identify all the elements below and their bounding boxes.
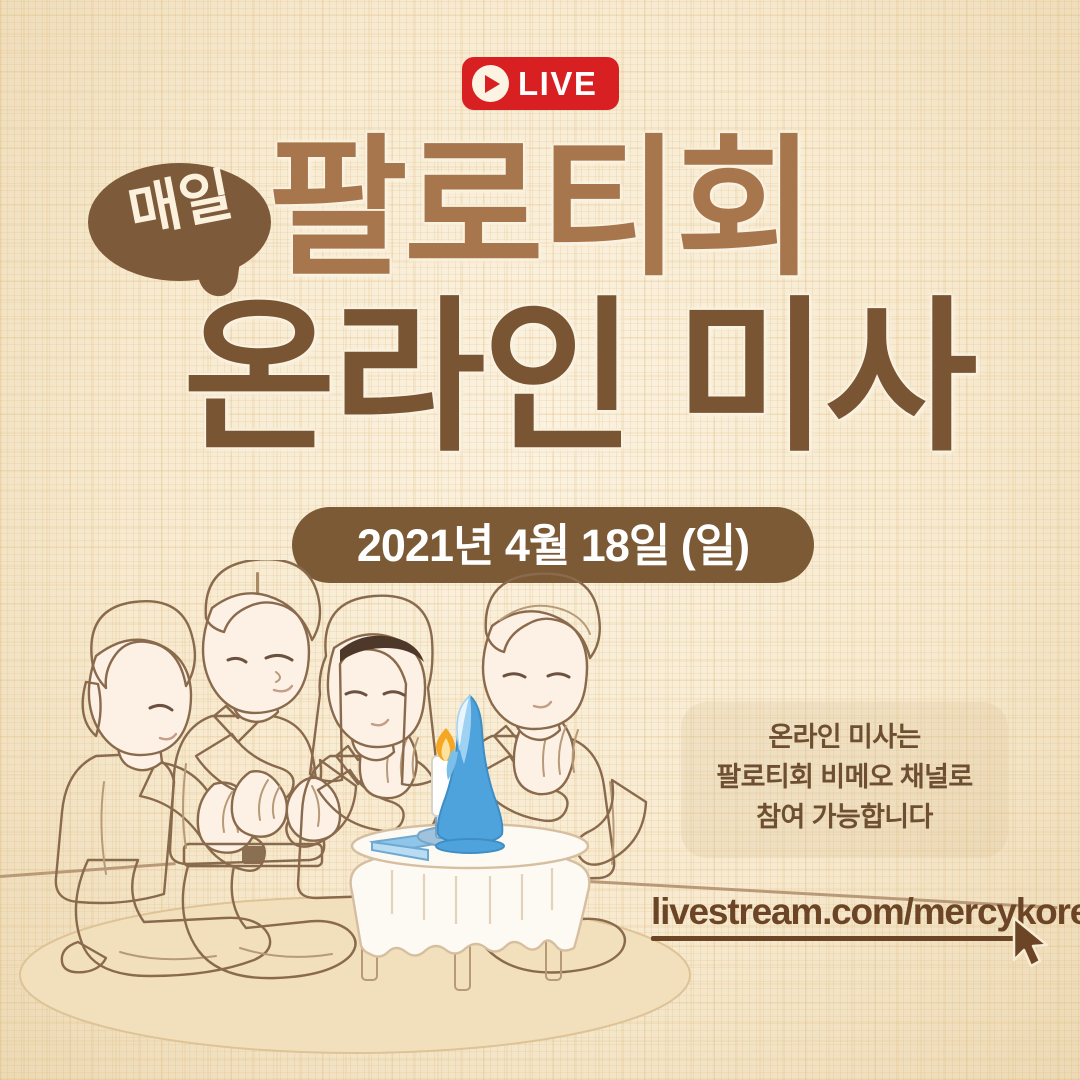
mouse-pointer-icon	[1010, 916, 1054, 968]
play-icon	[472, 65, 509, 102]
title-line-1: 팔로티회	[268, 133, 811, 285]
info-note-line-2: 팔로티회 비메오 채널로	[681, 758, 1008, 798]
info-note-line-3: 참여 가능합니다	[681, 798, 1008, 838]
title-line-2: 온라인 미사	[183, 296, 975, 462]
livestream-url-underline	[651, 936, 1019, 941]
info-note-line-1: 온라인 미사는	[681, 718, 1008, 758]
floor-rug	[20, 897, 690, 1053]
info-note-text: 온라인 미사는 팔로티회 비메오 채널로 참여 가능합니다	[681, 718, 1008, 838]
live-badge-label: LIVE	[518, 67, 597, 100]
live-badge[interactable]: LIVE	[462, 57, 619, 110]
poster-canvas: LIVE 매일 팔로티회 온라인 미사 2021년 4월 18일 (일) .ol…	[0, 0, 1080, 1080]
prayer-illustration: .ol{stroke:#8a6a4c;stroke-width:2.4;stro…	[0, 560, 760, 1080]
